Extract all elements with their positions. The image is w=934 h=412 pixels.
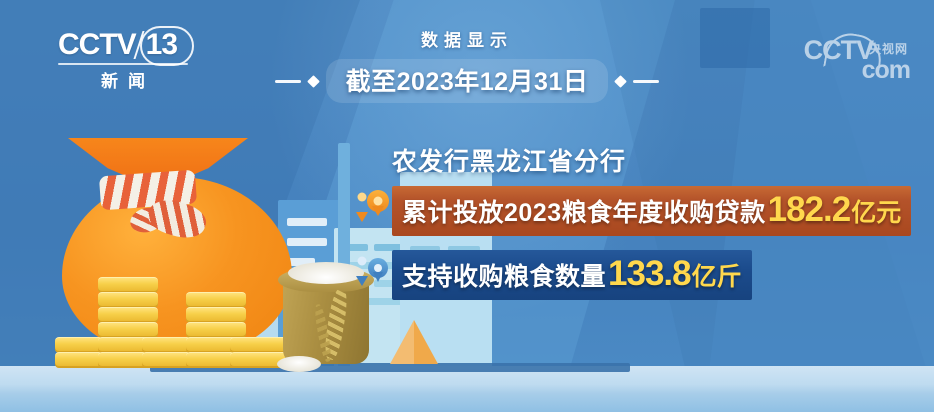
stat-row: 支持收购粮食数量 133.8 亿斤 bbox=[392, 250, 911, 300]
stat-label: 支持收购粮食数量 bbox=[402, 257, 606, 293]
location-pin-blue-icon bbox=[362, 261, 384, 289]
decorative-triangle-highlight bbox=[390, 320, 414, 364]
dash-right-icon bbox=[633, 80, 659, 83]
stat-value: 182.2 bbox=[768, 190, 851, 230]
header-date-row: 截至2023年12月31日 bbox=[0, 59, 934, 103]
spilled-rice bbox=[277, 356, 321, 372]
header-kicker: 数据显示 bbox=[0, 26, 934, 51]
diamond-right-icon bbox=[614, 75, 627, 88]
stat-row: 累计投放2023粮食年度收购贷款 182.2 亿元 bbox=[392, 186, 911, 236]
stat-bar-loan: 累计投放2023粮食年度收购贷款 182.2 亿元 bbox=[392, 186, 911, 236]
info-title: 农发行黑龙江省分行 bbox=[392, 142, 911, 178]
stat-value: 133.8 bbox=[608, 254, 691, 294]
stat-unit: 亿斤 bbox=[692, 257, 742, 293]
header: 数据显示 截至2023年12月31日 bbox=[0, 26, 934, 103]
info-block: 农发行黑龙江省分行 累计投放2023粮食年度收购贷款 182.2 亿元 支持收购… bbox=[392, 142, 911, 314]
stat-bar-grain: 支持收购粮食数量 133.8 亿斤 bbox=[392, 250, 752, 300]
rice-pile bbox=[288, 262, 364, 284]
broadcast-graphic: CCTV 13 新闻 CCTV 央视网 com 数据显示 截至2023年12月3… bbox=[0, 0, 934, 412]
diamond-left-icon bbox=[307, 75, 320, 88]
stat-unit: 亿元 bbox=[851, 193, 901, 229]
stat-label: 累计投放2023粮食年度收购贷款 bbox=[402, 193, 766, 229]
ground-band bbox=[0, 366, 934, 412]
header-date-pill: 截至2023年12月31日 bbox=[326, 59, 609, 103]
dash-left-icon bbox=[275, 80, 301, 83]
location-pin-orange-icon bbox=[362, 197, 384, 225]
